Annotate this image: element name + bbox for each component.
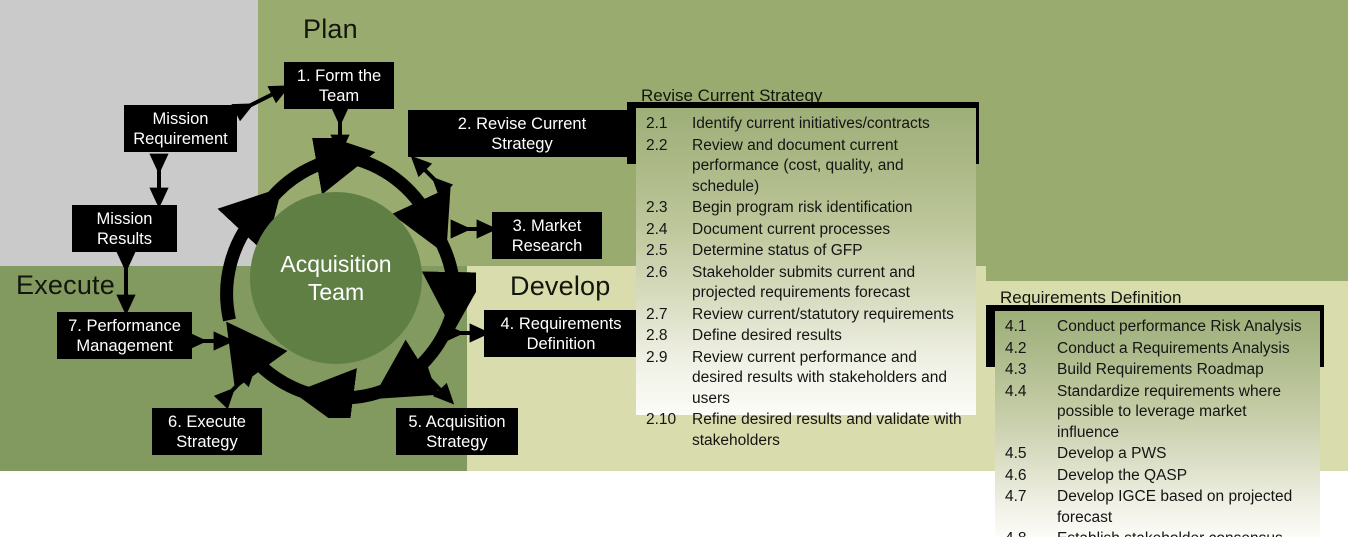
list-item-number: 2.6 [646, 263, 692, 284]
step-box-form-the-team[interactable]: 1. Form theTeam [284, 62, 394, 109]
list-item: 4.1Conduct performance Risk Analysis [1005, 317, 1310, 338]
list-item-number: 4.5 [1005, 444, 1057, 465]
step-box-requirements-definition[interactable]: 4. RequirementsDefinition [484, 310, 638, 357]
list-item-text: Review current/statutory requirements [692, 305, 954, 326]
list-item: 4.6Develop the QASP [1005, 466, 1310, 487]
acquisition-team-hub: Acquisition Team [250, 192, 422, 364]
list-item-text: Begin program risk identification [692, 198, 913, 219]
box-label: MissionResults [97, 209, 153, 249]
list-item: 4.8Establish stakeholder consensus [1005, 529, 1310, 537]
list-item: 2.7Review current/statutory requirements [646, 305, 966, 326]
list-item: 2.1Identify current initiatives/contract… [646, 114, 966, 135]
list-item-text: Standardize requirements where possible … [1057, 382, 1310, 444]
step-label: 5. AcquisitionStrategy [408, 412, 505, 452]
list-item-text: Conduct performance Risk Analysis [1057, 317, 1302, 338]
list-item-number: 2.8 [646, 326, 692, 347]
step-box-revise-current-strategy[interactable]: 2. Revise CurrentStrategy [408, 110, 636, 157]
acquisition-cycle-ring: Acquisition Team [196, 138, 476, 418]
list-item: 2.8Define desired results [646, 326, 966, 347]
list-item: 4.3Build Requirements Roadmap [1005, 360, 1310, 381]
develop-region-title: Develop [510, 271, 610, 302]
step-box-acquisition-strategy[interactable]: 5. AcquisitionStrategy [396, 408, 518, 455]
list-item-text: Refine desired results and validate with… [692, 410, 966, 451]
step-box-performance-management[interactable]: 7. PerformanceManagement [57, 312, 192, 359]
list-item-number: 2.3 [646, 198, 692, 219]
list-item: 2.2Review and document current performan… [646, 136, 966, 198]
list-item-number: 2.1 [646, 114, 692, 135]
step-label: 6. ExecuteStrategy [168, 412, 246, 452]
list-item: 2.6Stakeholder submits current and proje… [646, 263, 966, 304]
revise-panel-body: 2.1Identify current initiatives/contract… [636, 108, 976, 415]
list-item-text: Determine status of GFP [692, 241, 863, 262]
step-label: 3. MarketResearch [512, 216, 583, 256]
list-item-number: 2.10 [646, 410, 692, 431]
list-item-number: 4.4 [1005, 382, 1057, 403]
list-item-number: 2.5 [646, 241, 692, 262]
list-item: 2.9Review current performance and desire… [646, 348, 966, 410]
step-label: 1. Form theTeam [297, 66, 381, 106]
list-item-text: Develop a PWS [1057, 444, 1166, 465]
step-label: 4. RequirementsDefinition [500, 314, 621, 354]
list-item-text: Develop IGCE based on projected forecast [1057, 487, 1310, 528]
list-item: 2.3Begin program risk identification [646, 198, 966, 219]
execute-region-title: Execute [16, 270, 115, 301]
list-item-text: Establish stakeholder consensus [1057, 529, 1283, 537]
list-item-number: 4.8 [1005, 529, 1057, 537]
list-item: 4.2Conduct a Requirements Analysis [1005, 339, 1310, 360]
list-item-text: Define desired results [692, 326, 842, 347]
list-item-text: Stakeholder submits current and projecte… [692, 263, 966, 304]
list-item: 4.7Develop IGCE based on projected forec… [1005, 487, 1310, 528]
requirements-panel-body: 4.1Conduct performance Risk Analysis4.2C… [995, 311, 1320, 537]
list-item-number: 4.1 [1005, 317, 1057, 338]
list-item: 2.5Determine status of GFP [646, 241, 966, 262]
box-label: MissionRequirement [133, 109, 227, 149]
step-box-market-research[interactable]: 3. MarketResearch [492, 212, 602, 259]
list-item-number: 2.2 [646, 136, 692, 157]
list-item-number: 2.7 [646, 305, 692, 326]
acquisition-lifecycle-diagram: Plan Develop Execute [0, 0, 1348, 537]
box-mission-requirement[interactable]: MissionRequirement [124, 105, 237, 152]
hub-line-2: Team [308, 278, 364, 306]
list-item-number: 4.2 [1005, 339, 1057, 360]
list-item-number: 2.9 [646, 348, 692, 369]
step-label: 7. PerformanceManagement [68, 316, 181, 356]
list-item: 4.4Standardize requirements where possib… [1005, 382, 1310, 444]
list-item: 2.4Document current processes [646, 220, 966, 241]
list-item-number: 4.6 [1005, 466, 1057, 487]
box-mission-results[interactable]: MissionResults [72, 205, 177, 252]
list-item-text: Identify current initiatives/contracts [692, 114, 930, 135]
list-item: 4.5Develop a PWS [1005, 444, 1310, 465]
step-box-execute-strategy[interactable]: 6. ExecuteStrategy [152, 408, 262, 455]
list-item-number: 4.7 [1005, 487, 1057, 508]
list-item-text: Review current performance and desired r… [692, 348, 966, 410]
list-item-number: 4.3 [1005, 360, 1057, 381]
list-item-text: Conduct a Requirements Analysis [1057, 339, 1290, 360]
list-item-number: 2.4 [646, 220, 692, 241]
list-item-text: Review and document current performance … [692, 136, 966, 198]
list-item-text: Build Requirements Roadmap [1057, 360, 1264, 381]
list-item-text: Develop the QASP [1057, 466, 1187, 487]
plan-region-title: Plan [303, 14, 358, 45]
plan-region-extension [986, 0, 1348, 281]
list-item-text: Document current processes [692, 220, 890, 241]
list-item: 2.10Refine desired results and validate … [646, 410, 966, 451]
hub-line-1: Acquisition [280, 250, 391, 278]
step-label: 2. Revise CurrentStrategy [458, 114, 586, 154]
